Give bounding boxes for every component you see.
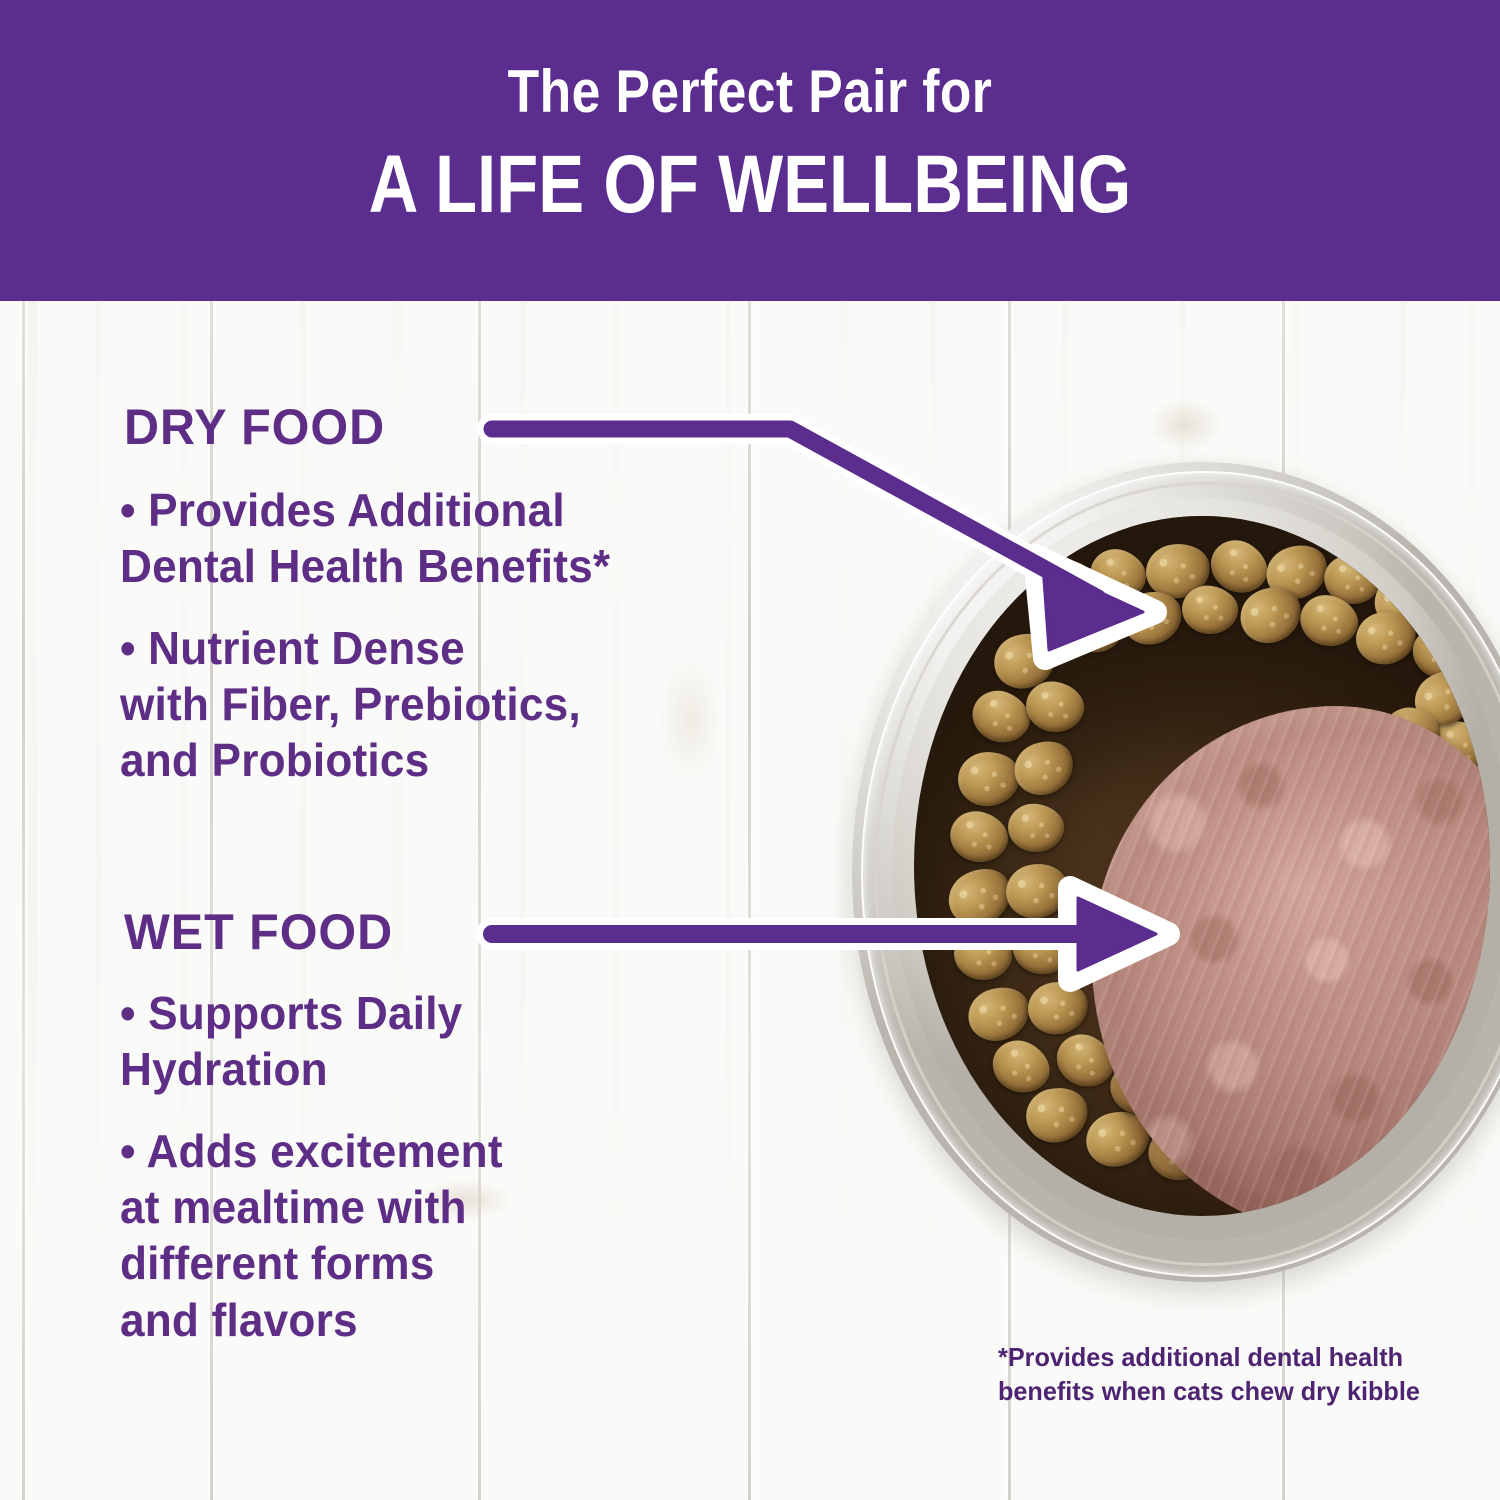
list-item: • Provides Additional Dental Health Bene… bbox=[120, 482, 792, 594]
list-item: • Supports Daily Hydration bbox=[120, 985, 792, 1097]
wet-food-bullet-list: • Supports Daily Hydration • Adds excite… bbox=[120, 985, 820, 1374]
wet-food-pate bbox=[1092, 706, 1490, 1216]
infographic-canvas: The Perfect Pair for A LIFE OF WELLBEING bbox=[0, 0, 1500, 1500]
dry-food-label: DRY FOOD bbox=[124, 398, 385, 456]
footnote-text: *Provides additional dental health benef… bbox=[998, 1340, 1454, 1409]
header-text-block: The Perfect Pair for A LIFE OF WELLBEING bbox=[0, 62, 1500, 226]
header-line-2: A LIFE OF WELLBEING bbox=[120, 144, 1380, 226]
bowl-graphic bbox=[852, 462, 1500, 1307]
pate-texture-lines bbox=[1092, 706, 1490, 1216]
dry-food-bullet-list: • Provides Additional Dental Health Bene… bbox=[120, 482, 820, 815]
list-item: • Nutrient Dense with Fiber, Prebiotics,… bbox=[120, 620, 792, 788]
list-item: • Adds excitement at mealtime with diffe… bbox=[120, 1123, 792, 1347]
bowl-cavity bbox=[914, 516, 1490, 1216]
wet-food-label: WET FOOD bbox=[124, 903, 393, 961]
header-line-1: The Perfect Pair for bbox=[105, 62, 1395, 122]
header-banner: The Perfect Pair for A LIFE OF WELLBEING bbox=[0, 0, 1500, 301]
cat-food-bowl-image bbox=[852, 462, 1500, 1307]
